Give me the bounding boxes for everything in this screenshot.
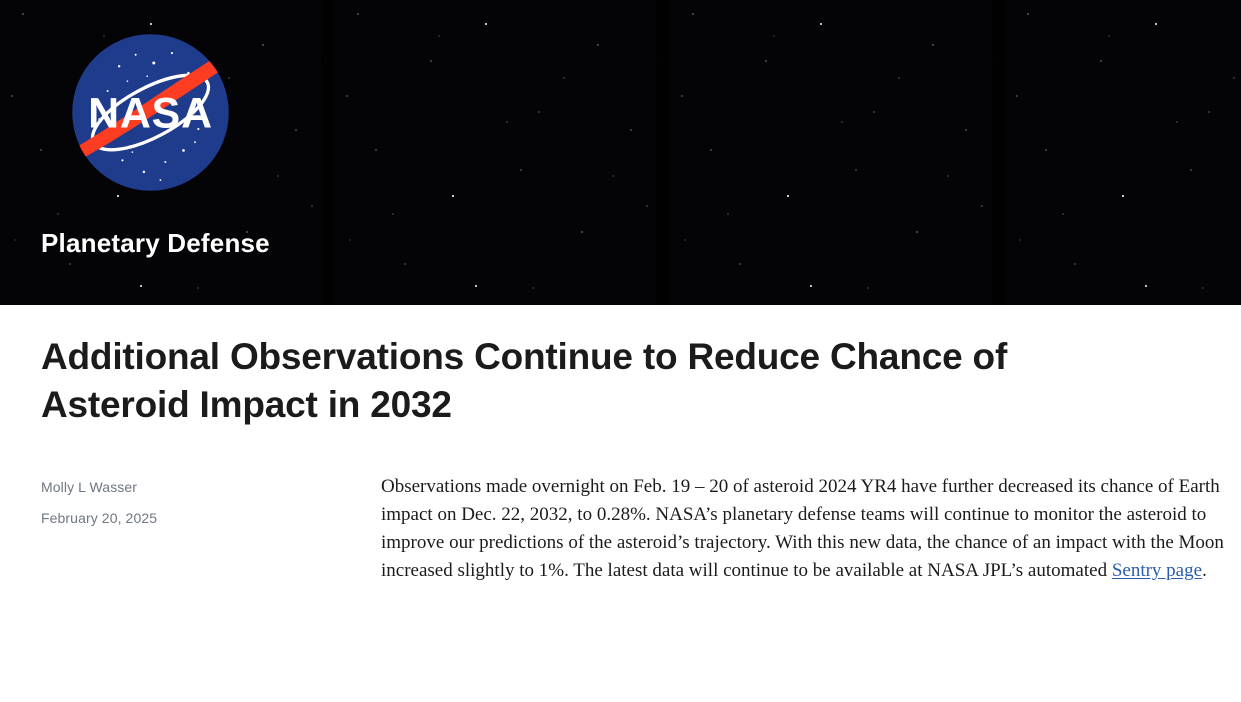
header-content: NASA Planetary Defense <box>41 0 681 305</box>
article-text-column: Observations made overnight on Feb. 19 –… <box>381 473 1225 585</box>
article-body: Molly L Wasser February 20, 2025 Observa… <box>0 429 1241 585</box>
article-author: Molly L Wasser <box>41 479 381 496</box>
site-header: NASA Planetary Defense <box>0 0 1241 305</box>
paragraph-text-after-link: . <box>1202 560 1207 581</box>
site-title: Planetary Defense <box>41 230 270 256</box>
article-meta: Molly L Wasser February 20, 2025 <box>41 473 381 527</box>
svg-text:NASA: NASA <box>88 89 213 137</box>
nasa-meatball-logo[interactable]: NASA <box>68 30 233 195</box>
article-date: February 20, 2025 <box>41 510 381 527</box>
paragraph-text-before-link: Observations made overnight on Feb. 19 –… <box>381 476 1224 581</box>
page-title: Additional Observations Continue to Redu… <box>0 305 1120 429</box>
article-paragraph: Observations made overnight on Feb. 19 –… <box>381 473 1225 585</box>
sentry-page-link[interactable]: Sentry page <box>1112 560 1202 581</box>
article: Additional Observations Continue to Redu… <box>0 305 1241 585</box>
